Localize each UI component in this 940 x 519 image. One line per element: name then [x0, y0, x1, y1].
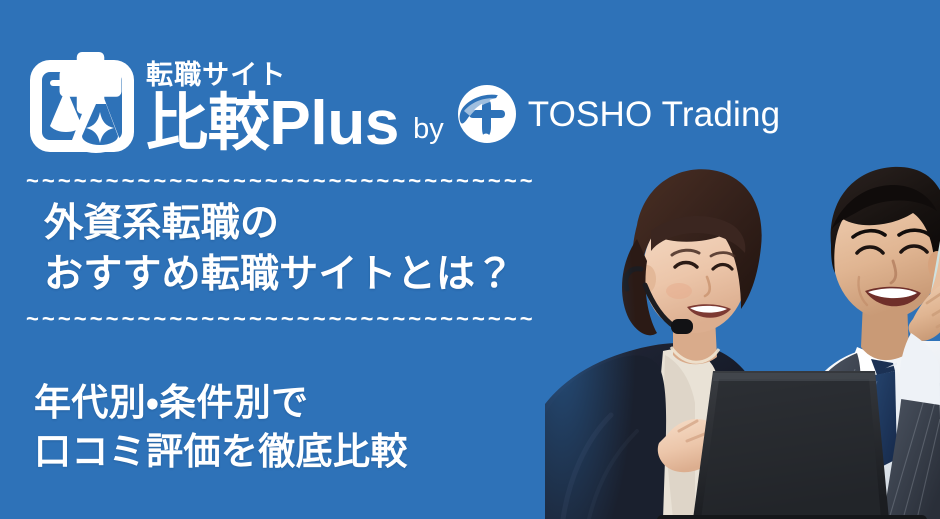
- tosho-globe-icon: [456, 83, 518, 145]
- divider-wave-bottom: ~~~~~~~~~~~~~~~~~~~~~~~~~~~~~~~~: [26, 310, 598, 328]
- subline-line-2: 口コミ評価を徹底比較: [34, 427, 408, 476]
- brand-wordmark: 転職サイト 比較Plus: [146, 62, 399, 154]
- brand-name: 比較Plus: [146, 95, 399, 154]
- balance-scale-plus-icon: [26, 44, 138, 156]
- headline-line-1: 外資系転職の: [44, 198, 514, 249]
- by-label: by: [413, 115, 444, 144]
- headline-line-2: おすすめ転職サイトとは？: [44, 249, 514, 300]
- laptop: [657, 371, 927, 519]
- subline: 年代別・条件別で 口コミ評価を徹底比較: [34, 378, 408, 476]
- woman-figure: [545, 169, 789, 519]
- headline: 外資系転職の おすすめ転職サイトとは？: [44, 198, 514, 301]
- brand-lockup: 転職サイト 比較Plus by TOSHO Trading: [26, 38, 780, 156]
- promo-banner: 転職サイト 比較Plus by TOSHO Trading: [0, 0, 940, 519]
- people-photo: [545, 119, 940, 519]
- man-figure: [795, 167, 940, 519]
- partner-lockup: TOSHO Trading: [456, 83, 781, 145]
- divider-wave-top: ~~~~~~~~~~~~~~~~~~~~~~~~~~~~~~~~: [26, 172, 598, 190]
- partner-company-name: TOSHO Trading: [528, 97, 781, 132]
- brand-kicker: 転職サイト: [146, 62, 399, 89]
- subline-line-1: 年代別・条件別で: [34, 378, 408, 427]
